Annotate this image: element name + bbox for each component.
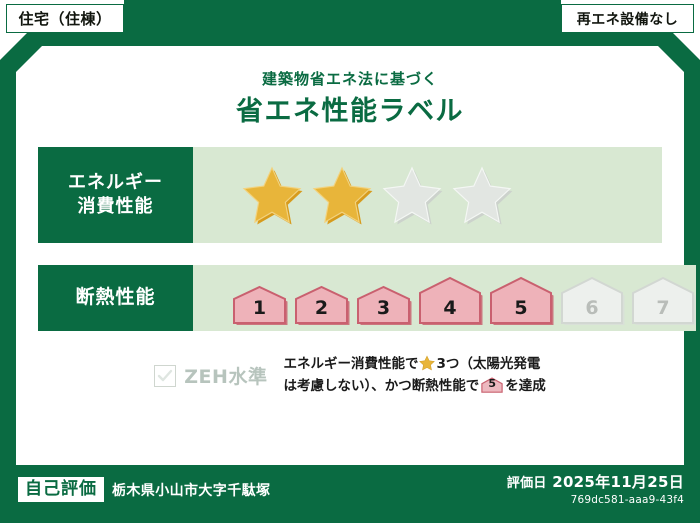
zeh-description: エネルギー消費性能で3つ（太陽光発電は考慮しない）、かつ断熱性能で5を達成 [283, 354, 545, 398]
zeh-label: ZEH水準 [184, 362, 267, 389]
evaluation-date-value: 2025年11月25日 [552, 473, 684, 491]
inline-level-badge-icon: 5 [481, 377, 503, 393]
inline-star-icon [419, 355, 435, 371]
label-title: 省エネ性能ラベル [16, 89, 684, 128]
insulation-level-number: 2 [293, 297, 350, 319]
document-id: 769dc581-aaa9-43f4 [507, 494, 684, 506]
insulation-level-number: 5 [488, 297, 554, 319]
insulation-performance-row: 断熱性能 1234567 [38, 265, 662, 331]
evaluation-date: 評価日 2025年11月25日 [507, 471, 684, 492]
insulation-level-6: 6 [559, 276, 625, 325]
star-filled-icon [241, 165, 303, 225]
footer-right: 評価日 2025年11月25日 769dc581-aaa9-43f4 [507, 471, 684, 506]
zeh-desc-part3: は考慮しない）、かつ断熱性能で [283, 378, 479, 394]
star-empty-icon [451, 165, 513, 225]
energy-performance-label: 住宅（住棟） 再エネ設備なし 建築物省エネ法に基づく 省エネ性能ラベル エネルギ… [0, 0, 700, 523]
zeh-desc-part2: 3つ（太陽光発電 [436, 356, 540, 372]
energy-label-line1: エネルギー [68, 171, 163, 195]
building-type-tag: 住宅（住棟） [6, 4, 124, 33]
insulation-level-3: 3 [355, 285, 412, 325]
property-address: 栃木県小山市大字千駄塚 [112, 480, 270, 500]
inline-level-badge-number: 5 [481, 375, 503, 393]
insulation-level-number: 7 [630, 297, 696, 319]
insulation-level-scale: 1234567 [231, 276, 696, 325]
zeh-checkbox-icon [154, 365, 176, 387]
star-rating [241, 165, 513, 225]
insulation-level-number: 3 [355, 297, 412, 319]
insulation-level-2: 2 [293, 285, 350, 325]
insulation-level-7: 7 [630, 276, 696, 325]
insulation-level-number: 4 [417, 297, 483, 319]
zeh-desc-part4: を達成 [505, 378, 546, 394]
zeh-desc-part1: エネルギー消費性能で [283, 356, 418, 372]
insulation-performance-label: 断熱性能 [38, 265, 193, 331]
insulation-level-number: 6 [559, 297, 625, 319]
renewable-energy-tag: 再エネ設備なし [561, 4, 694, 33]
evaluation-date-label: 評価日 [507, 476, 547, 491]
label-footer: 自己評価 栃木県小山市大字千駄塚 評価日 2025年11月25日 769dc58… [0, 465, 700, 523]
footer-left: 自己評価 栃木県小山市大字千駄塚 [18, 477, 270, 502]
insulation-performance-value: 1234567 [193, 265, 696, 331]
energy-performance-label: エネルギー 消費性能 [38, 147, 193, 243]
insulation-level-number: 1 [231, 297, 288, 319]
energy-label-line2: 消費性能 [78, 195, 154, 219]
energy-performance-row: エネルギー 消費性能 [38, 147, 662, 243]
zeh-section: ZEH水準 エネルギー消費性能で3つ（太陽光発電は考慮しない）、かつ断熱性能で5… [16, 354, 684, 398]
zeh-mark: ZEH水準 [154, 362, 267, 389]
label-panel: 建築物省エネ法に基づく 省エネ性能ラベル エネルギー 消費性能 断熱性能 123… [16, 46, 684, 465]
self-evaluation-badge: 自己評価 [18, 477, 104, 502]
insulation-level-4: 4 [417, 276, 483, 325]
star-filled-icon [311, 165, 373, 225]
energy-performance-value [193, 147, 662, 243]
insulation-level-1: 1 [231, 285, 288, 325]
insulation-level-5: 5 [488, 276, 554, 325]
star-empty-icon [381, 165, 443, 225]
label-subtitle: 建築物省エネ法に基づく [16, 68, 684, 89]
